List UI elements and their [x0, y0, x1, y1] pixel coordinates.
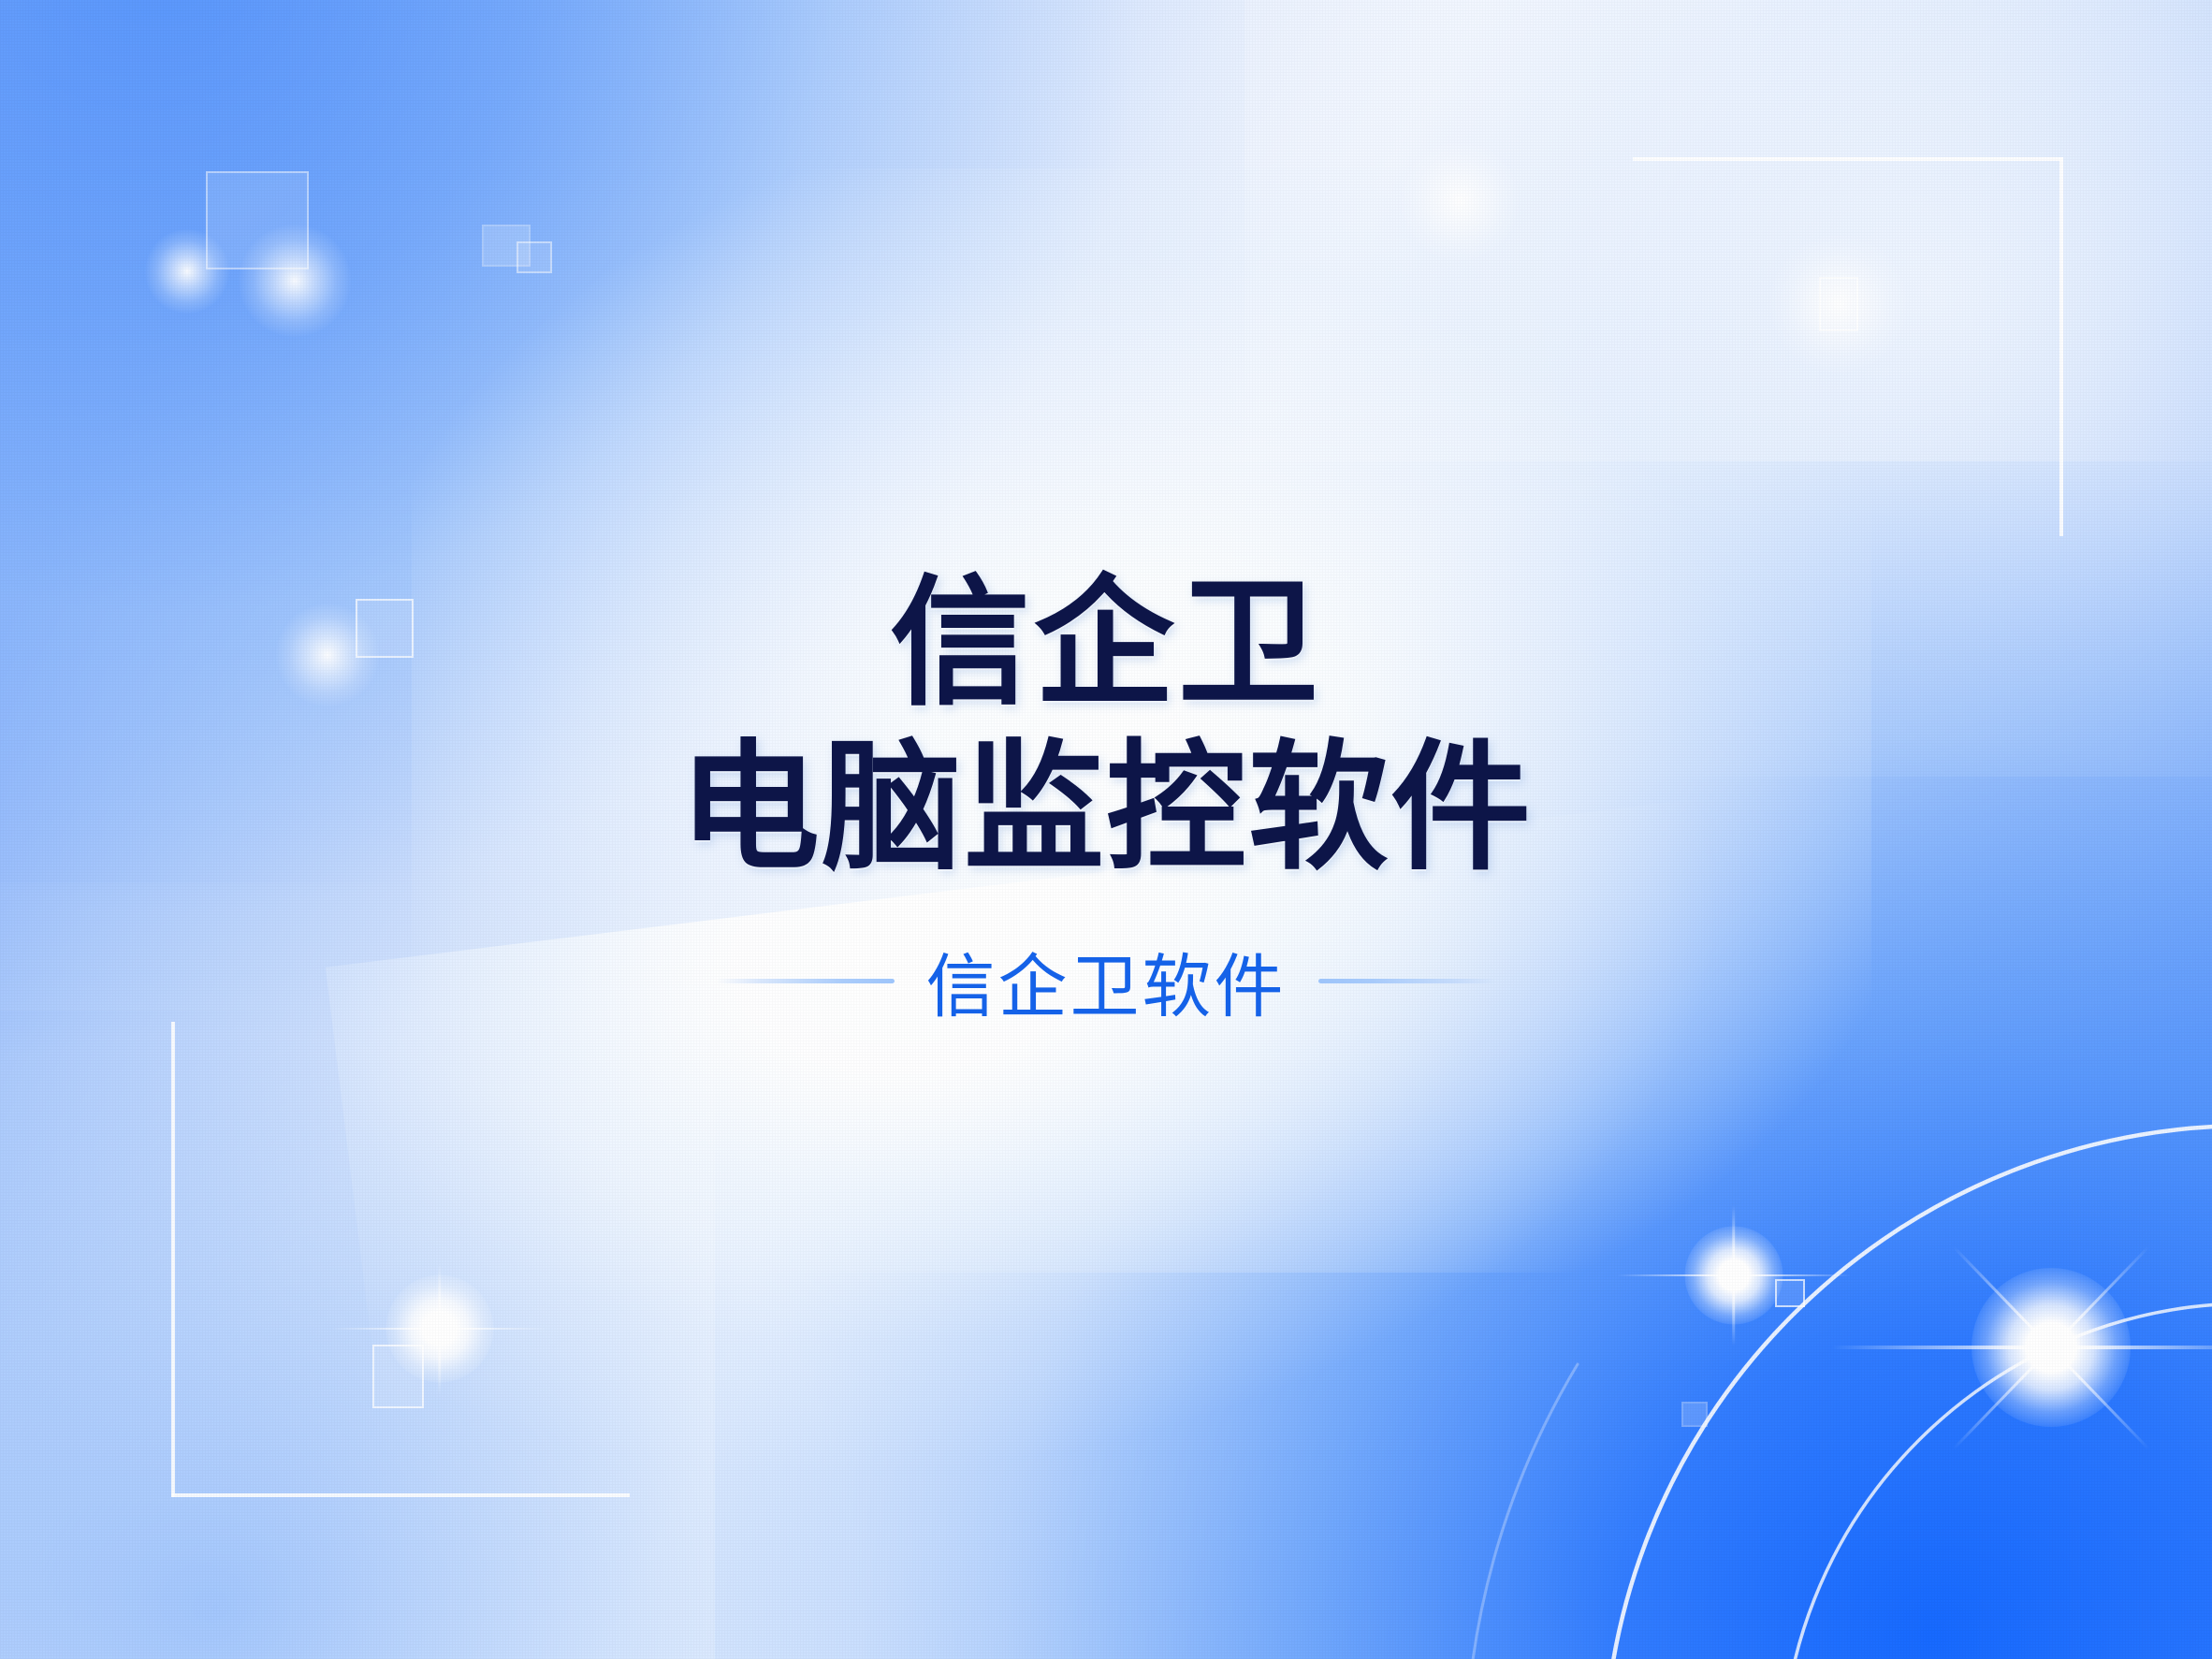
square-top-right [1819, 277, 1858, 331]
frame-top-right [1633, 157, 2063, 536]
square-large-top-left [206, 171, 309, 269]
frame-bottom-left-vertical [171, 1022, 175, 1497]
subtitle-rule-left [717, 979, 895, 983]
subtitle-rule-right [1318, 979, 1496, 983]
frame-top-right-vertical [2059, 157, 2063, 536]
square-lower-left [372, 1345, 424, 1408]
frame-bottom-left [171, 1022, 630, 1497]
page-title-line-2: 电脑监控软件 [0, 726, 2212, 891]
subtitle-row: 信企卫软件 [0, 931, 2212, 1031]
square-bottom-right-b [1681, 1402, 1708, 1427]
page-subtitle: 信企卫软件 [926, 931, 1287, 1031]
page-title-line-1: 信企卫 [0, 561, 2212, 726]
title-block: 信企卫 电脑监控软件 信企卫软件 [0, 561, 2212, 1031]
square-small-top-left-b [517, 241, 552, 273]
slide-canvas: 信企卫 电脑监控软件 信企卫软件 [0, 0, 2212, 1659]
frame-bottom-left-horizontal [171, 1493, 630, 1497]
frame-top-right-horizontal [1633, 157, 2063, 161]
square-bottom-right-a [1775, 1279, 1805, 1307]
